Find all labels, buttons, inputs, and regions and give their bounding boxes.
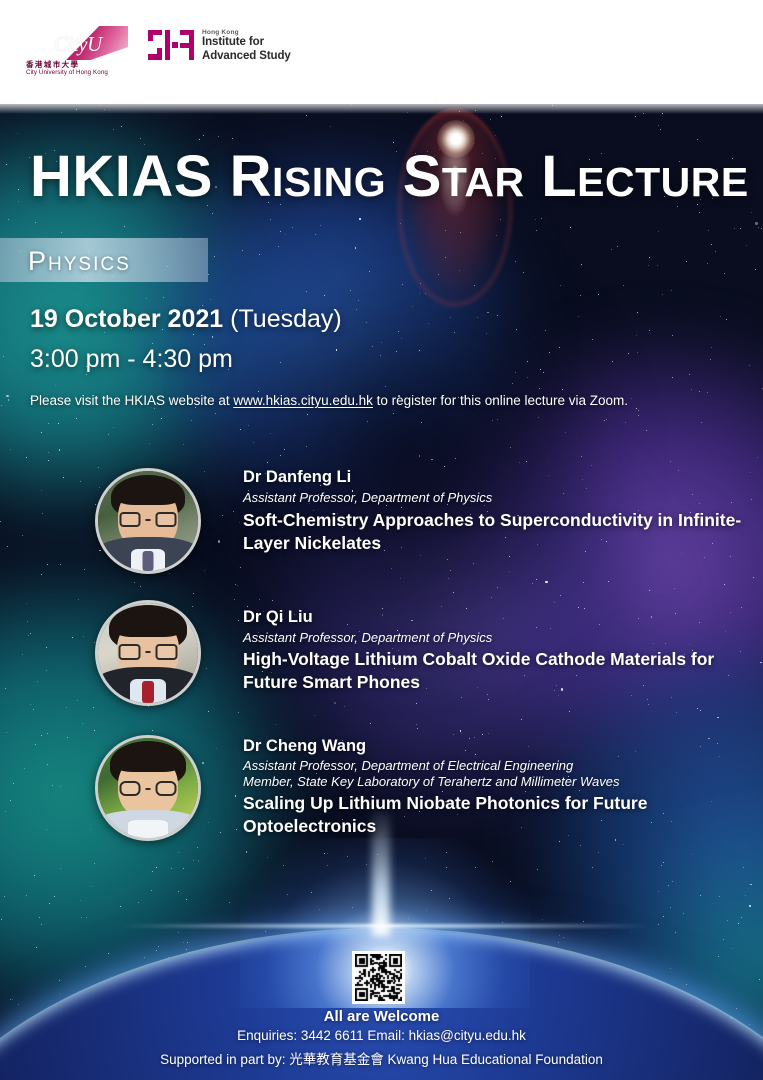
speaker-talk-title-2: High-Voltage Lithium Cobalt Oxide Cathod… (243, 648, 763, 694)
cityu-logo[interactable]: CityU 香港城市大學 City University of Hong Kon… (26, 26, 126, 81)
speaker-affiliation-3-0: Assistant Professor, Department of Elect… (243, 758, 573, 773)
subject-label: Physics (28, 242, 131, 280)
registration-note: Please visit the HKIAS website at www.hk… (30, 393, 628, 408)
header-band: CityU 香港城市大學 City University of Hong Kon… (0, 0, 763, 104)
poster-content: HKIAS Rising Star Lecture Physics 19 Oct… (0, 0, 763, 1080)
event-time: 3:00 pm - 4:30 pm (30, 345, 233, 374)
support-text: Supported in part by: 光華教育基金會 Kwang Hua … (0, 1048, 763, 1068)
enquiries-text: Enquiries: 3442 6611 Email: hkias@cityu.… (0, 1028, 763, 1043)
hkias-mark-icon (148, 30, 194, 60)
speaker-photo-2 (95, 600, 201, 706)
welcome-text: All are Welcome (0, 1008, 763, 1025)
hkias-line1: Hong Kong (202, 29, 291, 36)
cityu-english-name: City University of Hong Kong (26, 69, 108, 76)
glasses-icon-2 (119, 644, 178, 660)
event-weekday: (Tuesday) (230, 305, 342, 333)
speaker-name-2: Dr Qi Liu (243, 608, 313, 627)
speaker-talk-title-3: Scaling Up Lithium Niobate Photonics for… (243, 792, 763, 838)
registration-suffix: to register for this online lecture via … (373, 393, 628, 408)
speaker-photo-3 (95, 735, 201, 841)
registration-url[interactable]: www.hkias.cityu.edu.hk (233, 393, 373, 408)
hkias-line2: Institute for (202, 36, 291, 50)
hkias-logo[interactable]: Hong Kong Institute for Advanced Study (148, 30, 291, 63)
glasses-icon-1 (120, 512, 177, 527)
speaker-name-3: Dr Cheng Wang (243, 737, 366, 756)
necktie-2 (142, 681, 154, 703)
qr-code-image (355, 954, 402, 1001)
qr-code[interactable] (352, 951, 405, 1004)
speaker-photo-1 (95, 468, 201, 574)
speaker-affiliation-2-0: Assistant Professor, Department of Physi… (243, 630, 492, 645)
necktie-1 (143, 551, 154, 571)
logo-row: CityU 香港城市大學 City University of Hong Kon… (26, 26, 291, 81)
event-date: 19 October 2021 (Tuesday) (30, 305, 342, 334)
event-date-value: 19 October 2021 (30, 305, 223, 333)
cityu-wordmark: CityU (54, 32, 102, 57)
hkias-wordmark: Hong Kong Institute for Advanced Study (202, 29, 291, 63)
registration-prefix: Please visit the HKIAS website at (30, 393, 233, 408)
speaker-affiliation-3-1: Member, State Key Laboratory of Terahert… (243, 774, 619, 789)
speaker-affiliation-1-0: Assistant Professor, Department of Physi… (243, 490, 492, 505)
glasses-icon-3 (120, 781, 177, 796)
speaker-talk-title-1: Soft-Chemistry Approaches to Superconduc… (243, 509, 763, 555)
speaker-name-1: Dr Danfeng Li (243, 468, 351, 487)
poster: CityU 香港城市大學 City University of Hong Kon… (0, 0, 763, 1080)
hkias-line3: Advanced Study (202, 50, 291, 64)
poster-title: HKIAS Rising Star Lecture (30, 148, 736, 206)
